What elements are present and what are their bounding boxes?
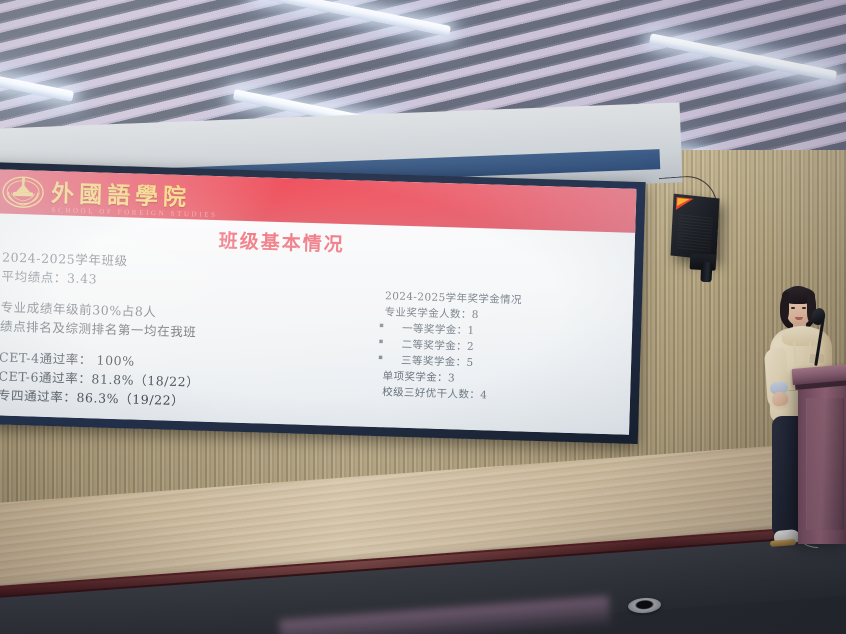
school-name-cn: 外國語學院 xyxy=(51,182,192,209)
lecture-hall-photo: 外國語學院 SCHOOL OF FOREIGN STUDIES 班级基本情况 2… xyxy=(0,0,846,634)
slide-title: 班级基本情况 xyxy=(218,226,345,257)
presenter-eye-right xyxy=(802,307,806,309)
presenter-eye-left xyxy=(791,307,795,309)
presenter-hair-left xyxy=(781,292,789,320)
podium-front-panel xyxy=(806,398,844,530)
wall-mounted-loudspeaker xyxy=(670,194,719,261)
slide-right-column: 2024-2025学年奖学金情况 专业奖学金人数：8 一等奖学金：1 二等奖学金… xyxy=(382,289,625,408)
presentation-slide: 外國語學院 SCHOOL OF FOREIGN STUDIES 班级基本情况 2… xyxy=(0,169,636,435)
projection-screen: 外國語學院 SCHOOL OF FOREIGN STUDIES 班级基本情况 2… xyxy=(0,169,636,435)
school-name-en: SCHOOL OF FOREIGN STUDIES xyxy=(51,206,217,219)
speaker-grill xyxy=(677,214,713,254)
speaker-warning-triangle-inner-icon xyxy=(677,198,689,207)
school-crest-icon xyxy=(1,174,46,209)
projection-screen-frame: 外國語學院 SCHOOL OF FOREIGN STUDIES 班级基本情况 2… xyxy=(0,162,646,444)
slide-left-column: 2024-2025学年班级 平均绩点：3.43 专业成绩年级前30%占8人 绩点… xyxy=(0,248,302,415)
speaker-mount-arm xyxy=(700,262,712,283)
slide-header-banner: 外國語學院 SCHOOL OF FOREIGN STUDIES xyxy=(0,169,636,233)
presenter-hood xyxy=(782,326,822,346)
